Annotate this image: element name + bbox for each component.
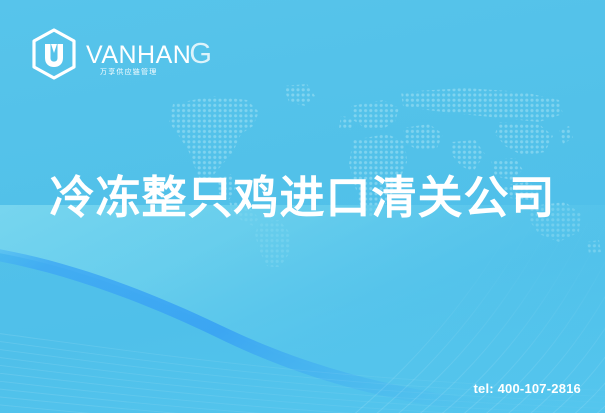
wordmark-tail: G (189, 38, 212, 70)
contact-phone: tel: 400-107-2816 (474, 381, 581, 396)
vanhang-hexagon-icon (30, 28, 78, 80)
brand-wordmark: VANHANG 万享供应链管理 (86, 34, 212, 74)
wordmark-main: VANHAN (86, 41, 191, 69)
promo-banner: VANHANG 万享供应链管理 冷冻整只鸡进口清关公司 tel: 400-107… (0, 0, 605, 413)
brand-logo[interactable]: VANHANG 万享供应链管理 (30, 28, 212, 80)
brand-subtitle: 万享供应链管理 (100, 67, 157, 77)
wordmark-text: VANHANG (86, 40, 212, 69)
page-title: 冷冻整只鸡进口清关公司 (0, 174, 605, 221)
